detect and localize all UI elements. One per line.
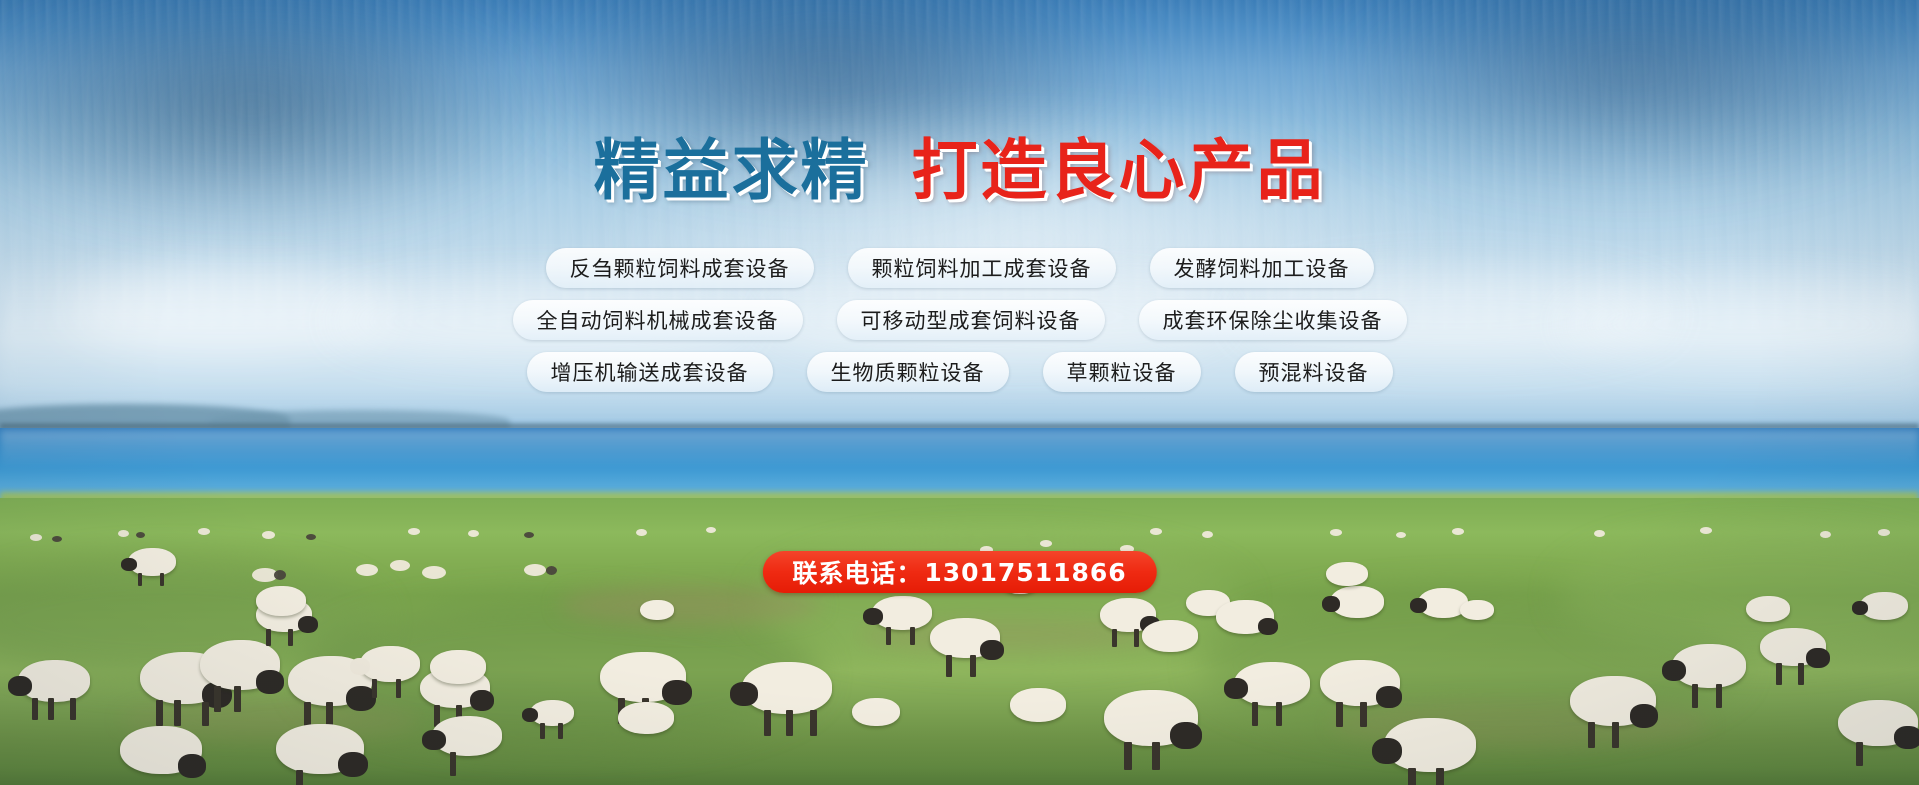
pill-premix-equipment[interactable]: 预混料设备	[1235, 352, 1393, 392]
sheep	[1672, 644, 1746, 688]
sheep	[1384, 718, 1476, 772]
sheep-head	[338, 752, 368, 777]
sheep-head	[350, 658, 370, 675]
sheep-leg	[1252, 702, 1258, 726]
distant-sheep	[524, 532, 534, 538]
sheep-leg	[202, 702, 209, 726]
sheep	[600, 652, 686, 702]
sheep-leg	[1798, 663, 1804, 685]
sheep-body	[256, 586, 306, 616]
distant-sheep	[1202, 531, 1213, 538]
sheep-leg	[234, 686, 241, 712]
distant-sheep	[422, 566, 446, 579]
headline: 精益求精打造良心产品	[0, 138, 1919, 204]
sheep	[432, 716, 502, 756]
sheep-leg	[396, 679, 401, 698]
distant-sheep	[1594, 530, 1605, 537]
sheep-leg	[1336, 702, 1343, 727]
sheep-body	[640, 600, 674, 620]
sheep-leg	[764, 710, 771, 736]
pill-row-2: 全自动饲料机械成套设备 可移动型成套饲料设备 成套环保除尘收集设备	[0, 300, 1919, 340]
sheep	[360, 646, 420, 682]
sheep-head	[980, 640, 1004, 660]
sheep	[1570, 676, 1656, 726]
sheep-head	[1806, 648, 1830, 668]
sheep	[18, 660, 90, 702]
sheep-leg	[160, 573, 164, 586]
sheep-leg	[288, 629, 293, 646]
sheep	[1460, 600, 1494, 620]
sheep-leg	[1856, 742, 1863, 766]
sheep	[1216, 600, 1274, 634]
sheep-head	[1170, 722, 1202, 749]
distant-sheep	[1700, 527, 1712, 534]
sheep-head	[1372, 738, 1402, 764]
sheep-leg	[138, 573, 142, 586]
sheep-head	[1410, 598, 1427, 613]
sheep-leg	[296, 770, 303, 785]
sheep-head	[522, 708, 538, 722]
sheep-leg	[540, 723, 545, 739]
sheep-leg	[1692, 684, 1698, 708]
sheep-leg	[1408, 768, 1416, 785]
distant-sheep	[274, 570, 286, 580]
distant-sheep	[1040, 540, 1052, 547]
distant-sheep	[546, 566, 557, 575]
sheep	[276, 724, 364, 774]
pill-row-3: 增压机输送成套设备 生物质颗粒设备 草颗粒设备 预混料设备	[0, 352, 1919, 392]
sheep-leg	[266, 629, 271, 646]
sheep	[1104, 690, 1198, 746]
sheep-head	[1894, 726, 1919, 749]
distant-sheep	[1396, 532, 1406, 538]
sheep	[1010, 688, 1066, 722]
sheep	[640, 600, 674, 620]
sheep-body	[1142, 620, 1198, 652]
sheep-leg	[214, 686, 221, 712]
sheep-head	[298, 616, 318, 633]
contact-phone-number: 13017511866	[924, 558, 1126, 587]
sheep-head	[178, 754, 206, 778]
sheep	[256, 586, 306, 616]
sheep	[852, 698, 900, 726]
sheep-head	[422, 730, 446, 750]
distant-sheep	[1330, 529, 1342, 536]
sheep-leg	[1360, 702, 1367, 727]
sheep	[200, 640, 280, 690]
water-highlight	[0, 430, 1919, 470]
sheep	[618, 702, 674, 734]
sheep	[1838, 700, 1918, 746]
sheep-head	[1852, 601, 1868, 615]
sheep-body	[430, 650, 486, 684]
pill-row-1: 反刍颗粒饲料成套设备 颗粒饲料加工成套设备 发酵饲料加工设备	[0, 248, 1919, 288]
distant-sheep	[1820, 531, 1831, 538]
sheep	[1326, 562, 1368, 586]
sheep-leg	[48, 698, 54, 720]
sheep-leg	[450, 752, 456, 776]
distant-sheep	[468, 530, 479, 537]
sheep-head	[256, 670, 284, 694]
sheep-head	[470, 690, 494, 711]
sheep	[128, 548, 176, 576]
distant-sheep	[306, 534, 316, 540]
sheep	[872, 596, 932, 630]
sheep-head	[1376, 686, 1402, 708]
sheep	[742, 662, 832, 714]
sheep-leg	[1716, 684, 1722, 708]
distant-sheep	[356, 564, 378, 576]
pill-pellet-feed-processing-complete-equipment[interactable]: 颗粒饲料加工成套设备	[848, 248, 1116, 288]
headline-red-text: 打造良心产品	[912, 138, 1326, 204]
sheep-leg	[1436, 768, 1444, 785]
sheep-leg	[1124, 742, 1132, 770]
sheep-leg	[70, 698, 76, 720]
sheep-leg	[156, 700, 163, 726]
sheep-body	[1460, 600, 1494, 620]
sheep-body	[1326, 562, 1368, 586]
sheep	[1860, 592, 1908, 620]
sheep-body	[1746, 596, 1790, 622]
sheep-head	[730, 682, 758, 706]
pill-booster-conveying-complete-equipment[interactable]: 增压机输送成套设备	[527, 352, 773, 392]
sheep-leg	[970, 655, 976, 677]
sheep-leg	[1112, 629, 1117, 647]
sheep-leg	[946, 655, 952, 677]
sheep-leg	[372, 679, 377, 698]
pill-fully-automatic-feed-machinery-complete-equipment[interactable]: 全自动饲料机械成套设备	[513, 300, 803, 340]
sheep-body	[1010, 688, 1066, 722]
distant-sheep	[636, 529, 647, 536]
sheep-leg	[174, 700, 181, 726]
sheep-leg	[1276, 702, 1282, 726]
contact-phone-label: 联系电话：	[792, 554, 922, 590]
pill-ruminant-pellet-feed-complete-equipment[interactable]: 反刍颗粒饲料成套设备	[546, 248, 814, 288]
sheep-leg	[1776, 663, 1782, 685]
distant-sheep	[198, 528, 210, 535]
pill-biomass-pellet-equipment[interactable]: 生物质颗粒设备	[807, 352, 1009, 392]
sheep	[1760, 628, 1826, 666]
sheep-leg	[810, 710, 817, 736]
sheep-head	[863, 608, 883, 625]
sheep-leg	[1588, 722, 1595, 748]
sheep-leg	[886, 627, 891, 645]
product-category-pills: 反刍颗粒饲料成套设备 颗粒饲料加工成套设备 发酵饲料加工设备 全自动饲料机械成套…	[0, 248, 1919, 404]
pill-fermented-feed-processing-equipment[interactable]: 发酵饲料加工设备	[1150, 248, 1374, 288]
sheep	[1234, 662, 1310, 706]
headline-blue-text: 精益求精	[594, 138, 870, 204]
distant-sheep	[1452, 528, 1464, 535]
sheep	[530, 700, 574, 726]
sheep	[430, 650, 486, 684]
distant-sheep	[52, 536, 62, 542]
distant-sheep	[706, 527, 716, 533]
sheep	[120, 726, 202, 774]
sheep	[1746, 596, 1790, 622]
distant-sheep	[408, 528, 420, 535]
sheep-head	[121, 558, 137, 571]
sheep-head	[1258, 618, 1278, 635]
contact-phone-badge[interactable]: 联系电话： 13017511866	[762, 551, 1156, 593]
sheep-head	[1322, 596, 1340, 612]
distant-sheep	[118, 530, 129, 537]
sheep-head	[1224, 678, 1248, 699]
distant-sheep	[30, 534, 42, 541]
sheep	[1330, 586, 1384, 618]
sheep	[1142, 620, 1198, 652]
distant-sheep	[1878, 529, 1890, 536]
distant-sheep	[1150, 528, 1162, 535]
distant-sheep	[524, 564, 546, 576]
distant-sheep	[390, 560, 410, 571]
sheep-leg	[1612, 722, 1619, 748]
pill-mobile-type-complete-feed-equipment[interactable]: 可移动型成套饲料设备	[837, 300, 1105, 340]
sheep-body	[852, 698, 900, 726]
sheep	[930, 618, 1000, 658]
sheep	[1320, 660, 1400, 706]
pill-grass-pellet-equipment[interactable]: 草颗粒设备	[1043, 352, 1201, 392]
sheep-body	[618, 702, 674, 734]
sheep-leg	[558, 723, 563, 739]
promotional-banner: 精益求精打造良心产品 反刍颗粒饲料成套设备 颗粒饲料加工成套设备 发酵饲料加工设…	[0, 0, 1919, 785]
sheep-leg	[1134, 629, 1139, 647]
distant-sheep	[136, 532, 145, 538]
sheep-leg	[786, 710, 793, 736]
pill-complete-environmental-dust-collection-equipment[interactable]: 成套环保除尘收集设备	[1139, 300, 1407, 340]
sheep-head	[8, 676, 32, 696]
distant-sheep	[262, 531, 275, 539]
sheep-leg	[32, 698, 38, 720]
sheep-head	[1630, 704, 1658, 728]
sheep-leg	[910, 627, 915, 645]
sheep-head	[1662, 660, 1686, 681]
sheep-leg	[1152, 742, 1160, 770]
